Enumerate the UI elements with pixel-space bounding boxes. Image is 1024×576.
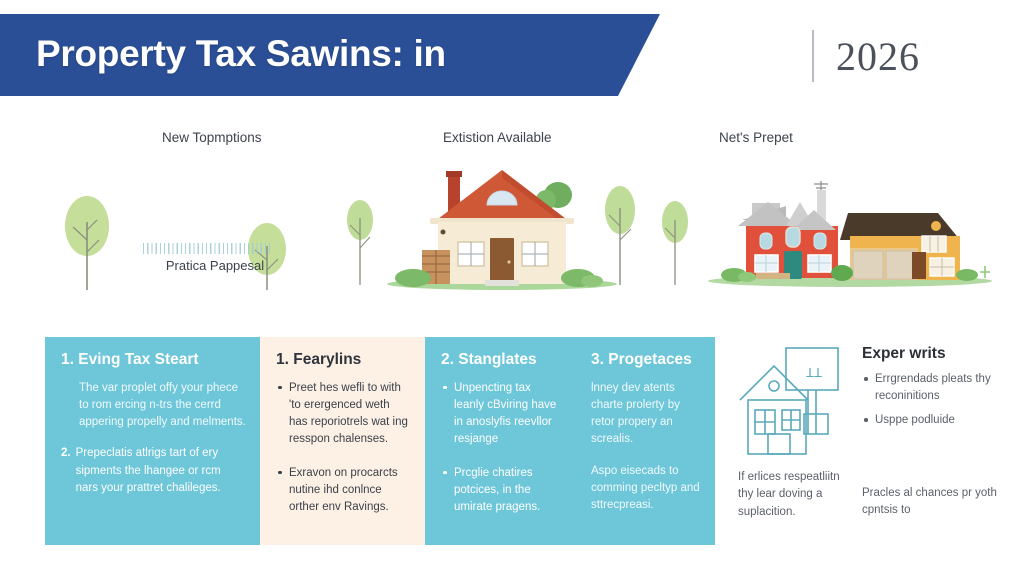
card-title: 1. Fearylins [276,351,411,370]
infographic-page: Property Tax Sawins: in 2026 New Topmpti… [0,0,1024,576]
card-paragraph: Aspo eisecads to comming pecltyp and stt… [591,463,701,515]
item-text: Prepeclatis atlrigs tart of ery sipments… [76,445,246,497]
two-trees-icon [40,160,340,315]
card-bullet-item: Exravon on procarcts nutine ihd conlnce … [276,465,411,517]
card-paragraph: lnney dev atents charte prolerty by reto… [591,380,701,449]
expert-heading: Exper writs [862,345,946,363]
card-numbered-item: 2. Prepeclatis atlrigs tart of ery sipme… [61,445,246,497]
item-number: 2. [61,445,71,497]
page-title: Property Tax Sawins: in [36,33,446,75]
outline-house-sign-icon: TT [736,342,848,464]
two-suburban-houses-icon [690,178,1010,298]
card-title: 1. Eving Tax Steart [61,351,246,370]
illustration-right [690,178,1010,298]
card-title: 2. Stanglates [441,351,561,370]
illustration-left: Pratica Pappesal [40,160,340,315]
detached-house-icon [330,160,690,315]
card-fearylins[interactable]: 1. Fearylins Preet hes wefli to with 'to… [260,337,425,545]
section-label-nets-prepet: Net's Prepet [719,130,793,145]
section-label-row: New Topmptions Extistion Available Net's… [0,130,1024,154]
expert-bullet-list: Errgrendads pleats thy reconinitions Usp… [862,371,1012,437]
illustration-center [330,160,690,315]
expert-bullet-item: Errgrendads pleats thy reconinitions [862,371,1012,404]
card-bullet-item: Prcglie chatires potcices, in the umirat… [441,465,561,517]
header-year-group: 2026 [812,30,920,82]
expert-footnote-right: Pracles al chances pr yoth cpntsis to [862,485,1022,520]
section-label-extension-available: Extistion Available [443,130,552,145]
card-stanglates[interactable]: 2. Stanglates Unpencting tax leanly cBvi… [425,337,575,545]
card-title: 3. Progetaces [591,351,701,370]
card-eving-tax-steart[interactable]: 1. Eving Tax Steart The var proplet offy… [45,337,260,545]
card-bullet-item: Unpencting tax leanly cBviring have in a… [441,380,561,449]
hatched-line-decoration [143,243,270,254]
expert-footnote-left: If erlices respeatliitn thy lear doving … [738,469,848,521]
card-paragraph: The var proplet offy your phece to rom e… [79,380,246,432]
card-progetaces[interactable]: 3. Progetaces lnney dev atents charte pr… [575,337,715,545]
section-label-new-options: New Topmptions [162,130,262,145]
illustration-strip: Pratica Pappesal [0,160,1024,315]
expert-bullet-item: Usppe podluide [862,412,1012,429]
header-year: 2026 [836,33,920,80]
card-bullet-item: Preet hes wefli to with 'to erergenced w… [276,380,411,449]
svg-text:TT: TT [806,365,822,380]
expert-panel: TT Exper writs Errgrendads pleats thy re… [736,337,1021,552]
illustration-left-caption: Pratica Pappesal [95,258,335,273]
header-divider [812,30,814,82]
